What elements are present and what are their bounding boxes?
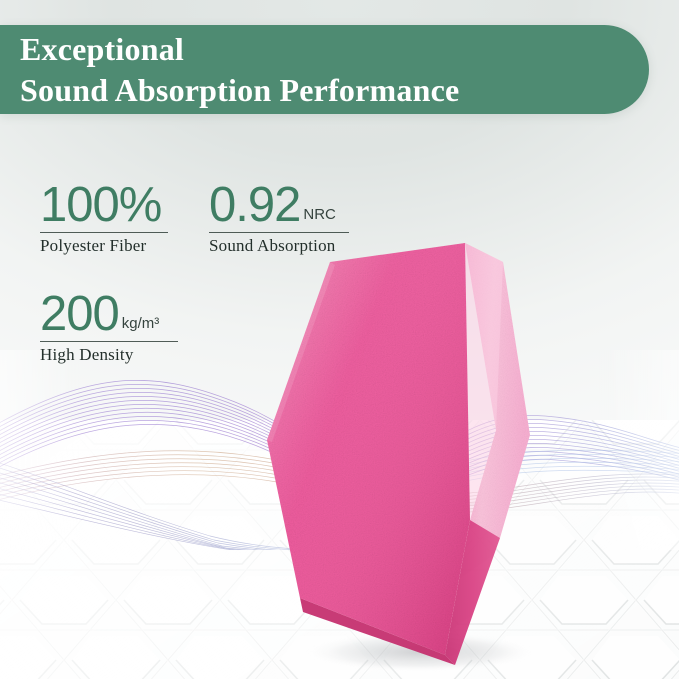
stat-value: 0.92: [209, 181, 300, 229]
stat-sound-absorption: 0.92 NRC Sound Absorption: [209, 181, 349, 256]
stat-polyester-fiber: 100% Polyester Fiber: [40, 181, 168, 256]
stat-value: 200: [40, 290, 119, 338]
stat-unit: NRC: [303, 207, 336, 222]
page-title: Exceptional Sound Absorption Performance: [20, 29, 459, 111]
title-line-1: Exceptional: [20, 29, 459, 70]
infographic-canvas: Exceptional Sound Absorption Performance…: [0, 0, 679, 679]
stat-high-density: 200 kg/m³ High Density: [40, 290, 178, 365]
stat-value-row: 200 kg/m³: [40, 290, 178, 338]
stat-label: Sound Absorption: [209, 236, 349, 256]
stat-divider: [40, 232, 168, 233]
stat-divider: [209, 232, 349, 233]
stat-value: 100%: [40, 181, 161, 229]
stat-unit: kg/m³: [122, 316, 160, 331]
title-line-2: Sound Absorption Performance: [20, 70, 459, 111]
stat-value-row: 0.92 NRC: [209, 181, 349, 229]
stat-label: High Density: [40, 345, 178, 365]
stat-value-row: 100%: [40, 181, 168, 229]
stat-divider: [40, 341, 178, 342]
stat-label: Polyester Fiber: [40, 236, 168, 256]
header-banner: Exceptional Sound Absorption Performance: [0, 25, 649, 114]
